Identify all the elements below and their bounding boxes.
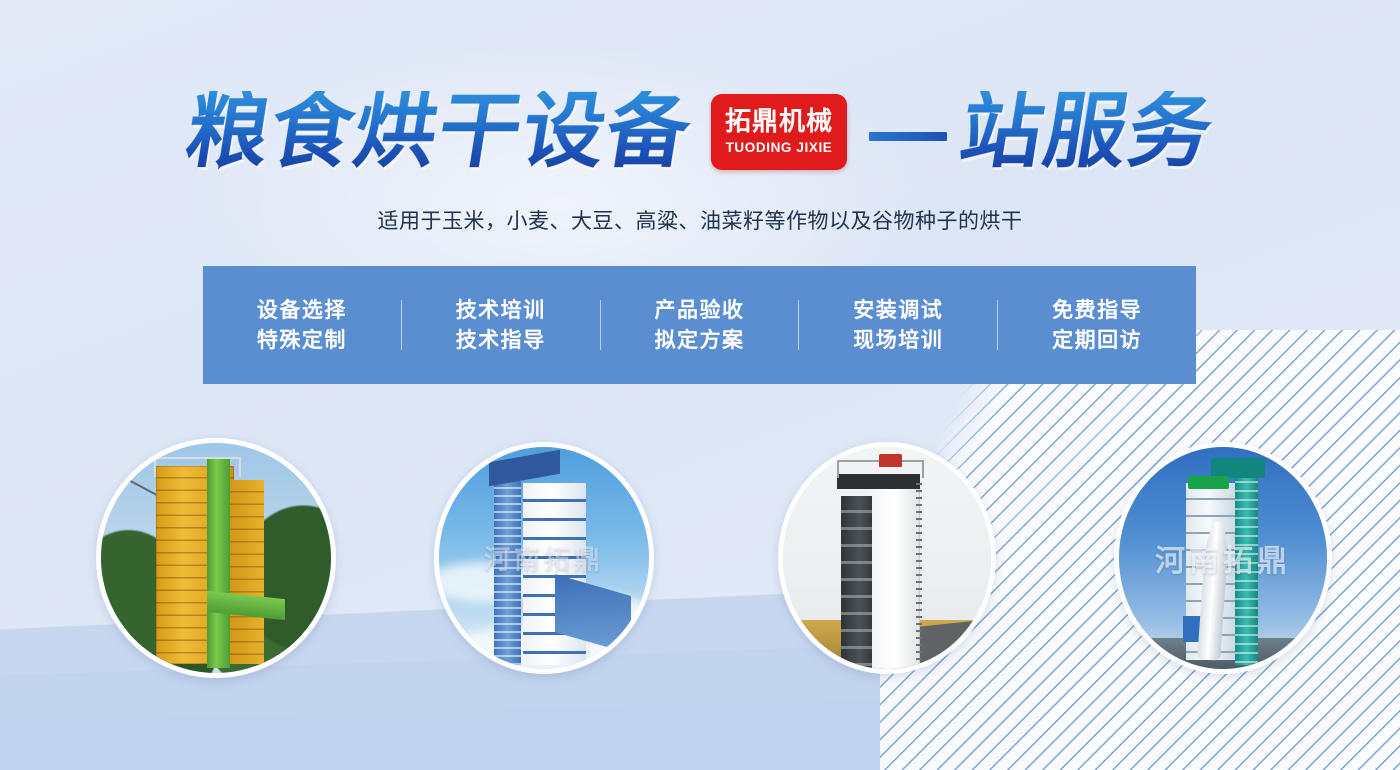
photo-scene [101,443,331,673]
product-photo-grey-dryer [778,442,996,674]
background-band-far [0,684,1400,770]
feature-item-product-acceptance: 产品验收 拟定方案 [601,299,799,350]
banner-subtitle: 适用于玉米，小麦、大豆、高粱、油菜籽等作物以及谷物种子的烘干 [0,205,1400,235]
feature-line-1: 技术培训 [456,299,546,321]
feature-item-installation-commissioning: 安装调试 现场培训 [799,299,997,350]
feature-line-2: 定期回访 [1052,329,1142,351]
feature-item-technical-training: 技术培训 技术指导 [402,299,600,350]
feature-line-1: 安装调试 [853,299,943,321]
photo-scene [783,447,991,669]
headline-secondary: 站服务 [955,91,1220,173]
photo-watermark: 河南拓鼎 [1119,536,1327,580]
dryer-body-right [225,480,264,664]
brand-name-en: TUODING JIXIE [726,141,833,155]
headline-main: 粮食烘干设备 [180,91,697,173]
dryer-body [870,478,920,669]
feature-item-free-guidance: 免费指导 定期回访 [998,299,1196,350]
product-photo-yellow-dryer [96,438,336,678]
promotional-banner: 粮食烘干设备 拓鼎机械 TUODING JIXIE 站服务 适用于玉米，小麦、大… [0,0,1400,770]
top-railing [154,457,241,477]
feature-line-2: 现场培训 [853,329,943,351]
photo-watermark: 河南拓鼎 [439,540,649,577]
brand-logo-badge: 拓鼎机械 TUODING JIXIE [711,94,847,170]
brand-name-cn: 拓鼎机械 [725,109,833,135]
product-photo-gallery: 河南拓鼎 [0,438,1400,688]
feature-line-1: 设备选择 [257,299,347,321]
headline-dash-stroke [869,132,947,141]
ladder [916,483,922,665]
brand-sign [1188,476,1230,489]
product-photo-blue-dryer: 河南拓鼎 [434,442,654,674]
dryer-dark-section [841,496,872,669]
feature-line-2: 特殊定制 [257,329,347,351]
red-unit [879,454,902,467]
feature-line-2: 拟定方案 [654,329,744,351]
product-photo-teal-dryer: 河南拓鼎 [1114,442,1332,674]
feature-item-equipment-selection: 设备选择 特殊定制 [203,299,401,350]
feature-line-1: 免费指导 [1052,299,1142,321]
headline-row: 粮食烘干设备 拓鼎机械 TUODING JIXIE 站服务 [0,74,1400,190]
feature-line-1: 产品验收 [654,299,744,321]
service-feature-bar: 设备选择 特殊定制 技术培训 技术指导 产品验收 拟定方案 安装调试 现场培训 … [203,266,1196,384]
bucket-elevator [207,457,230,669]
feature-line-2: 技术指导 [456,329,546,351]
